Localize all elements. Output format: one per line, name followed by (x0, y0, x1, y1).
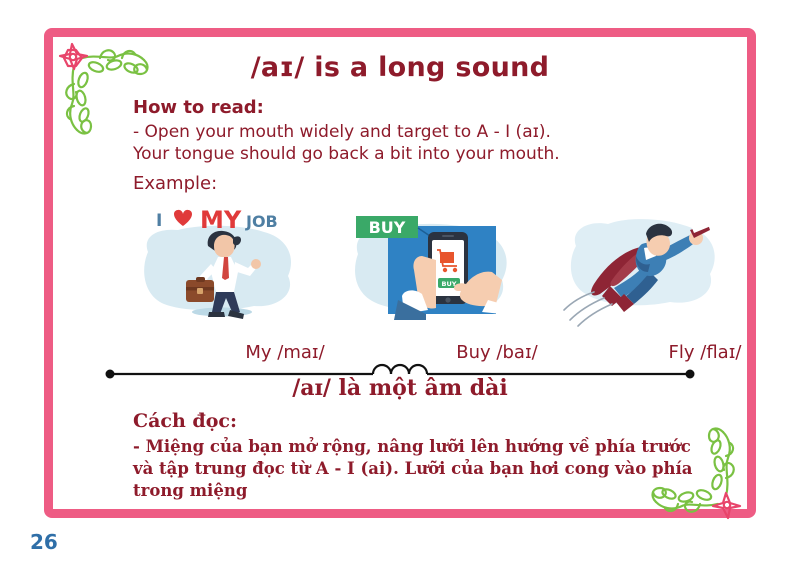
instruction-line-1: - Open your mouth widely and target to A… (133, 122, 551, 142)
page-number: 26 (30, 530, 58, 554)
how-to-read-label: How to read: (133, 97, 264, 118)
example-item-fly (550, 200, 740, 335)
page-title-vietnamese: /aɪ/ là một âm dài (60, 375, 740, 401)
example-illustration-row: I MY JOB (120, 200, 740, 335)
instruction-line-2: Your tongue should go back a bit into yo… (133, 144, 560, 164)
svg-text:MY: MY (200, 206, 242, 234)
buy-tag-label: BUY (369, 218, 406, 237)
svg-text:I: I (156, 211, 162, 231)
buy-tag: BUY (356, 216, 418, 238)
example-item-my: I MY JOB (130, 200, 320, 335)
example-item-buy: BUY (342, 200, 532, 335)
svg-text:JOB: JOB (245, 212, 278, 231)
page-title-english: /aɪ/ is a long sound (60, 52, 740, 83)
cach-doc-label: Cách đọc: (133, 410, 237, 432)
example-label: Example: (133, 173, 217, 194)
worksheet-page: /aɪ/ is a long sound How to read: - Open… (0, 0, 800, 566)
content-area: /aɪ/ is a long sound How to read: - Open… (60, 40, 740, 506)
vietnamese-instruction-body: - Miệng của bạn mở rộng, nâng lưỡi lên h… (133, 436, 693, 501)
